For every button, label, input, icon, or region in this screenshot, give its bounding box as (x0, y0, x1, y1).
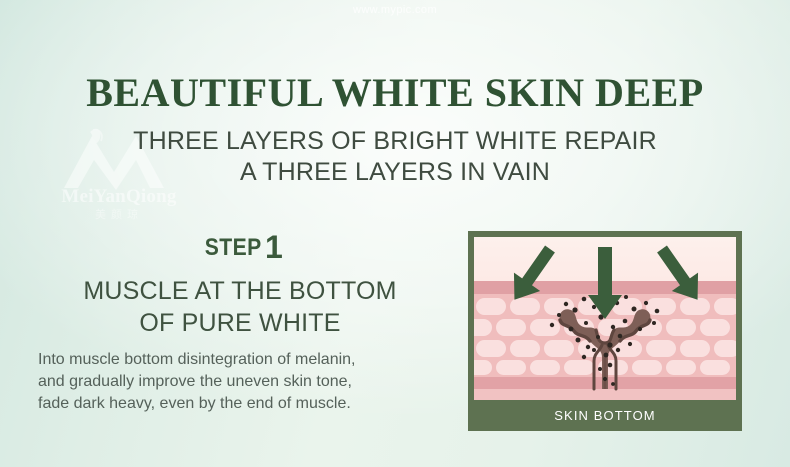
step-label: STEP (205, 236, 262, 260)
subtitle-line-2: A THREE LAYERS IN VAIN (0, 157, 790, 188)
body-line-2: and gradually improve the uneven skin to… (38, 371, 458, 393)
page-title: BEAUTIFUL WHITE SKIN DEEP (0, 70, 790, 116)
skin-bottom-caption: SKIN BOTTOM (474, 400, 736, 431)
brand-name: MeiYanQiong (44, 186, 194, 208)
subtitle: THREE LAYERS OF BRIGHT WHITE REPAIR A TH… (0, 126, 790, 188)
brand-name-chinese: 美颜琼 (44, 206, 194, 222)
subtitle-line-1: THREE LAYERS OF BRIGHT WHITE REPAIR (0, 126, 790, 157)
poster-canvas: www.mypic.com MeiYanQiong 美颜琼 BEAUTIFUL … (0, 0, 790, 467)
body-paragraph: Into muscle bottom disintegration of mel… (38, 349, 458, 415)
skin-cross-section (474, 237, 736, 400)
step-heading: STEP1 (40, 231, 440, 263)
section-heading: MUSCLE AT THE BOTTOM OF PURE WHITE (35, 275, 445, 339)
body-line-1: Into muscle bottom disintegration of mel… (38, 349, 458, 371)
section-heading-line-2: OF PURE WHITE (35, 307, 445, 339)
watermark-text: www.mypic.com (0, 4, 790, 16)
section-heading-line-1: MUSCLE AT THE BOTTOM (35, 275, 445, 307)
step-number: 1 (265, 229, 283, 265)
skin-diagram-graphics (474, 237, 736, 400)
body-line-3: fade dark heavy, even by the end of musc… (38, 393, 458, 415)
skin-diagram-panel: SKIN BOTTOM (468, 231, 742, 431)
